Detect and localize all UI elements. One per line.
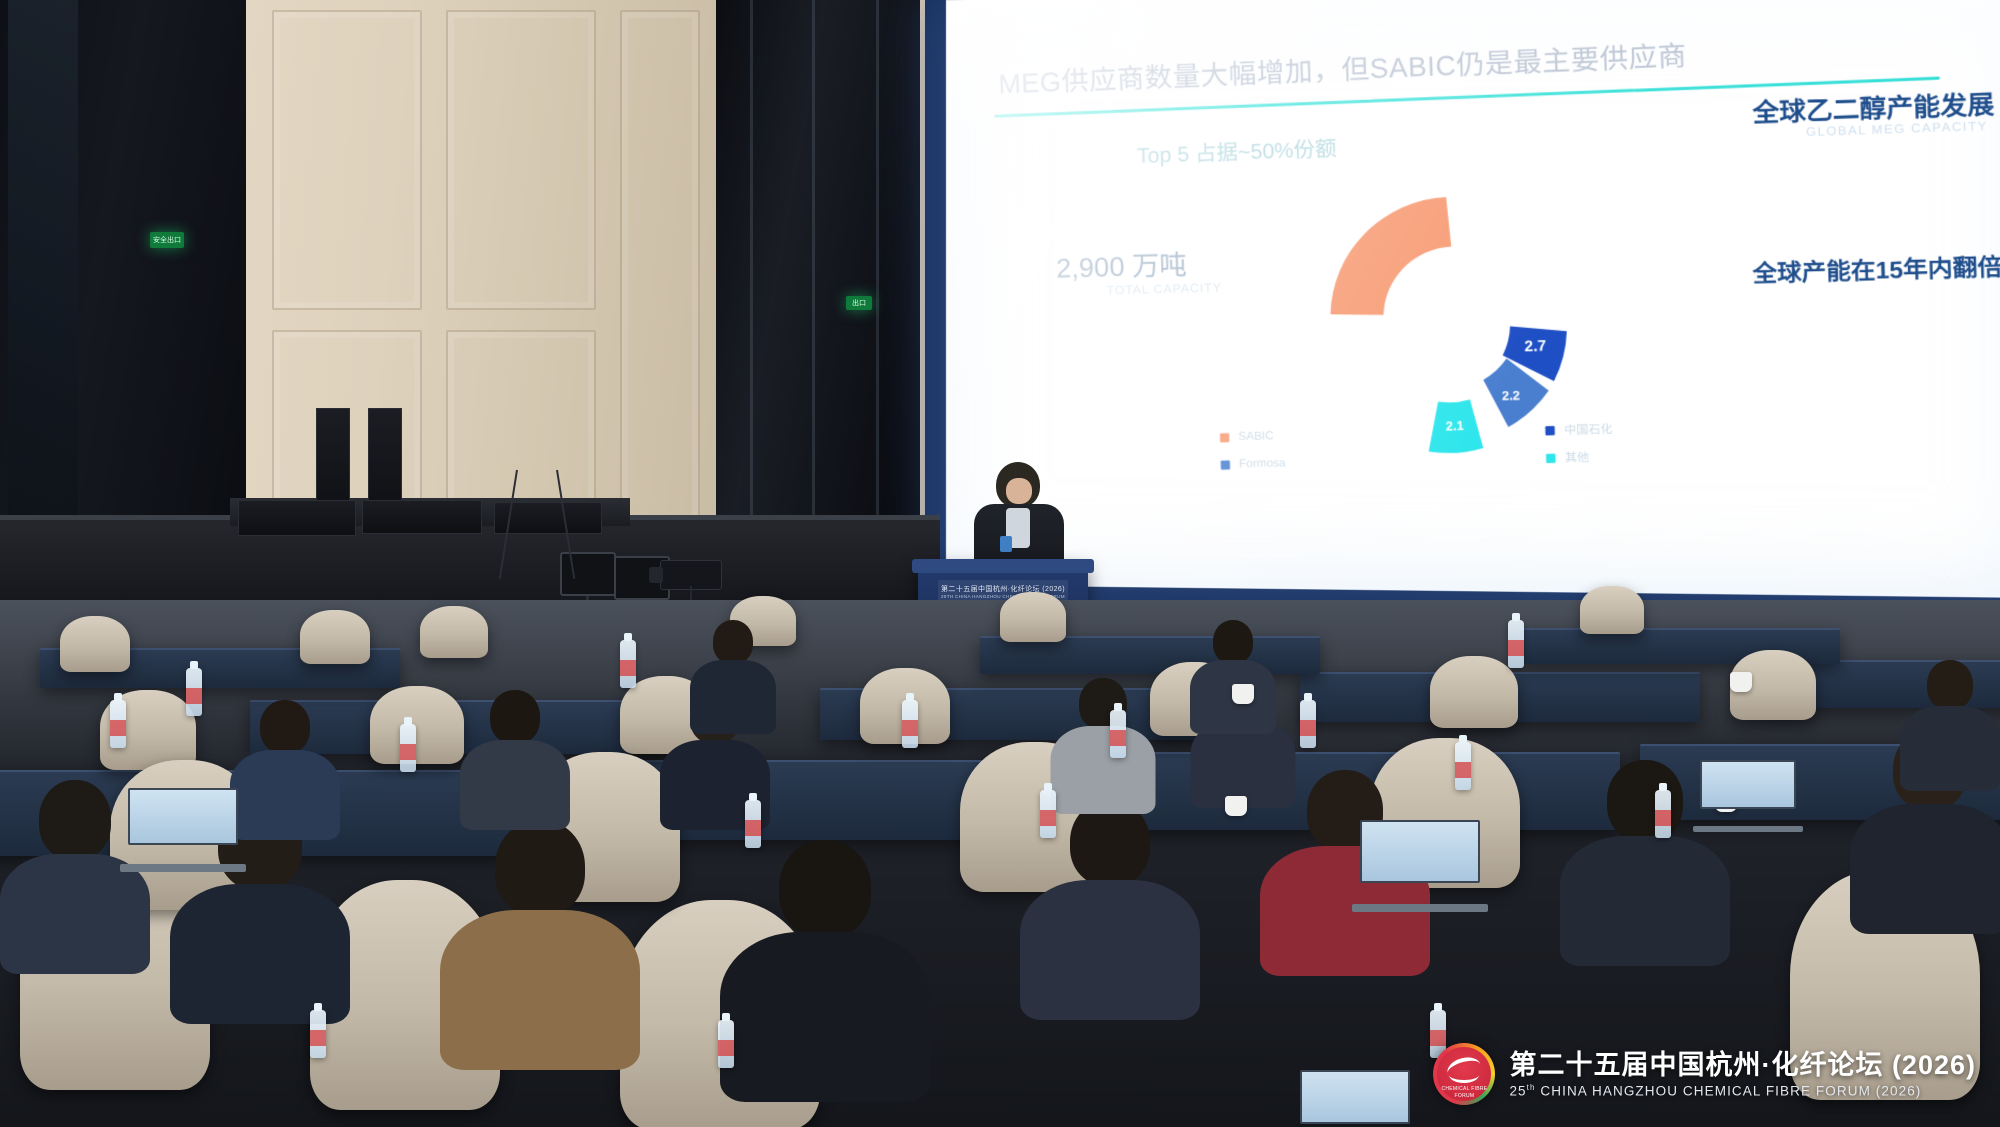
conference-photo-scene: 安全出口 出口 MEG供应商数量大幅增加，但SABIC仍是最主要供应商 全球乙二… — [0, 0, 2000, 1127]
chair — [60, 616, 130, 672]
chair — [1430, 656, 1518, 728]
attendee-head — [1607, 760, 1683, 842]
exit-sign: 安全出口 — [150, 232, 184, 248]
presentation-slide: MEG供应商数量大幅增加，但SABIC仍是最主要供应商 全球乙二醇产能发展 GL… — [946, 0, 2000, 598]
stage-equipment-case — [238, 500, 356, 536]
attendee — [690, 620, 776, 725]
legend-label-other: 其他 — [1565, 449, 1590, 466]
water-bottle — [620, 640, 636, 688]
attendee-body — [170, 884, 350, 1024]
paper-cup — [1232, 684, 1254, 704]
laptop[interactable] — [128, 788, 238, 872]
legend-item: 其他 — [1546, 444, 1805, 466]
exit-sign: 出口 — [846, 296, 872, 310]
attendee-body — [1050, 726, 1155, 814]
slide-right-note: 全球产能在15年内翻倍 — [1753, 247, 2000, 289]
water-bottle — [1455, 742, 1471, 790]
legend-swatch-other — [1546, 453, 1556, 462]
chair — [1580, 586, 1644, 634]
attendee-head — [260, 700, 310, 754]
podium-top — [912, 559, 1094, 573]
dark-wall-column — [716, 0, 921, 600]
legend-label-sinopec: 中国石化 — [1564, 421, 1613, 438]
donut-center-total-en: TOTAL CAPACITY — [1106, 280, 1222, 297]
attendee — [460, 690, 570, 820]
attendee-body — [0, 854, 150, 974]
chair — [300, 610, 370, 664]
attendee-body — [690, 660, 776, 734]
chair — [370, 686, 464, 764]
exit-sign-label: 安全出口 — [153, 235, 181, 245]
attendee-body — [720, 932, 930, 1102]
laptop-screen — [128, 788, 238, 845]
water-bottle — [1300, 700, 1316, 748]
attendee-head — [1927, 660, 1973, 710]
water-bottle — [400, 724, 416, 772]
forum-watermark: CHEMICAL FIBRE FORUM 第二十五届中国杭州·化纤论坛 (202… — [1433, 1043, 1976, 1105]
projection-screen: MEG供应商数量大幅增加，但SABIC仍是最主要供应商 全球乙二醇产能发展 GL… — [946, 0, 2000, 598]
laptop-screen — [1360, 820, 1480, 883]
forum-title-cn: 第二十五届中国杭州·化纤论坛 (2026) — [1509, 1050, 1976, 1081]
attendee — [1190, 620, 1276, 725]
wall-inset — [446, 10, 596, 310]
forum-title-en: CHINA HANGZHOU CHEMICAL FIBRE FORUM (202… — [1540, 1083, 1921, 1098]
legend-swatch-sinopec — [1545, 426, 1555, 435]
legend-swatch-sabic — [1220, 433, 1229, 442]
donut-segment-sabic — [1310, 173, 1474, 345]
laptop-screen — [1300, 1070, 1410, 1124]
attendee — [230, 700, 340, 830]
forum-title-en-prefix: 25 — [1509, 1083, 1526, 1098]
water-bottle — [902, 700, 918, 748]
laptop[interactable] — [1300, 1070, 1410, 1127]
wall-inset — [272, 10, 422, 310]
legend-label-sabic: SABIC — [1238, 430, 1274, 443]
attendee — [1900, 660, 2000, 780]
attendee-body — [1850, 804, 2000, 934]
laptop[interactable] — [1700, 760, 1796, 832]
water-bottle — [110, 700, 126, 748]
legend-label-formosa: Formosa — [1239, 457, 1286, 470]
forum-title-en-sup: th — [1527, 1083, 1536, 1092]
attendee-body — [1560, 836, 1730, 966]
donut-center-total: 2,900 万吨 — [1056, 243, 1188, 286]
water-bottle — [1040, 790, 1056, 838]
water-bottle — [745, 800, 761, 848]
attendee-head — [495, 820, 585, 916]
studio-light — [560, 552, 616, 596]
laptop-base — [1693, 826, 1802, 832]
stage-equipment-case — [362, 500, 482, 534]
forum-logo-icon: CHEMICAL FIBRE FORUM — [1433, 1043, 1495, 1105]
donut-label-sinopec: 2.7 — [1524, 337, 1546, 355]
water-bottle — [186, 668, 202, 716]
water-bottle — [1655, 790, 1671, 838]
wall-seam — [876, 0, 879, 600]
forum-logo-line2: FORUM — [1433, 1093, 1495, 1099]
laptop[interactable] — [1360, 820, 1480, 912]
legend-swatch-formosa — [1221, 460, 1230, 469]
slide-title: MEG供应商数量大幅增加，但SABIC仍是最主要供应商 — [998, 23, 1935, 102]
chair — [1000, 592, 1066, 642]
paper-cup — [1730, 672, 1752, 692]
presenter-face — [1006, 478, 1032, 504]
attendee-body — [460, 740, 570, 830]
wall-inset — [620, 10, 700, 570]
laptop-base — [1352, 904, 1489, 912]
attendee — [720, 840, 930, 1090]
laptop-screen — [1700, 760, 1796, 809]
wall-seam — [812, 0, 815, 600]
donut-label-sabic: 5.6 — [1454, 244, 1476, 262]
attendee — [1050, 678, 1155, 803]
exit-sign-label: 出口 — [852, 298, 866, 308]
forum-watermark-text: 第二十五届中国杭州·化纤论坛 (2026) 25th CHINA HANGZHO… — [1509, 1050, 1976, 1099]
water-bottle — [718, 1020, 734, 1068]
wall-seam — [750, 0, 753, 600]
attendee-head — [713, 620, 753, 664]
water-bottle — [1110, 710, 1126, 758]
water-bottle — [310, 1010, 326, 1058]
attendee-head — [490, 690, 540, 744]
podium-title-cn: 第二十五届中国杭州·化纤论坛 (2026) — [941, 584, 1065, 594]
attendee-body — [440, 910, 640, 1070]
attendee-head — [779, 840, 871, 938]
paper-cup — [1225, 796, 1247, 816]
presenter-badge — [1000, 536, 1012, 552]
attendee-body — [1900, 706, 2000, 791]
laptop-base — [120, 864, 245, 872]
attendee-body — [230, 750, 340, 840]
donut-label-formosa: 2.2 — [1502, 388, 1521, 403]
water-bottle — [1508, 620, 1524, 668]
forum-title-en-row: 25th CHINA HANGZHOU CHEMICAL FIBRE FORUM… — [1509, 1083, 1976, 1099]
attendee-head — [1213, 620, 1253, 664]
chair — [420, 606, 488, 658]
attendee — [440, 820, 640, 1060]
legend-item: SABIC — [1220, 424, 1473, 446]
attendee-head — [39, 780, 111, 860]
forum-logo-line1: CHEMICAL FIBRE — [1433, 1086, 1495, 1092]
attendee-body — [1020, 880, 1200, 1020]
